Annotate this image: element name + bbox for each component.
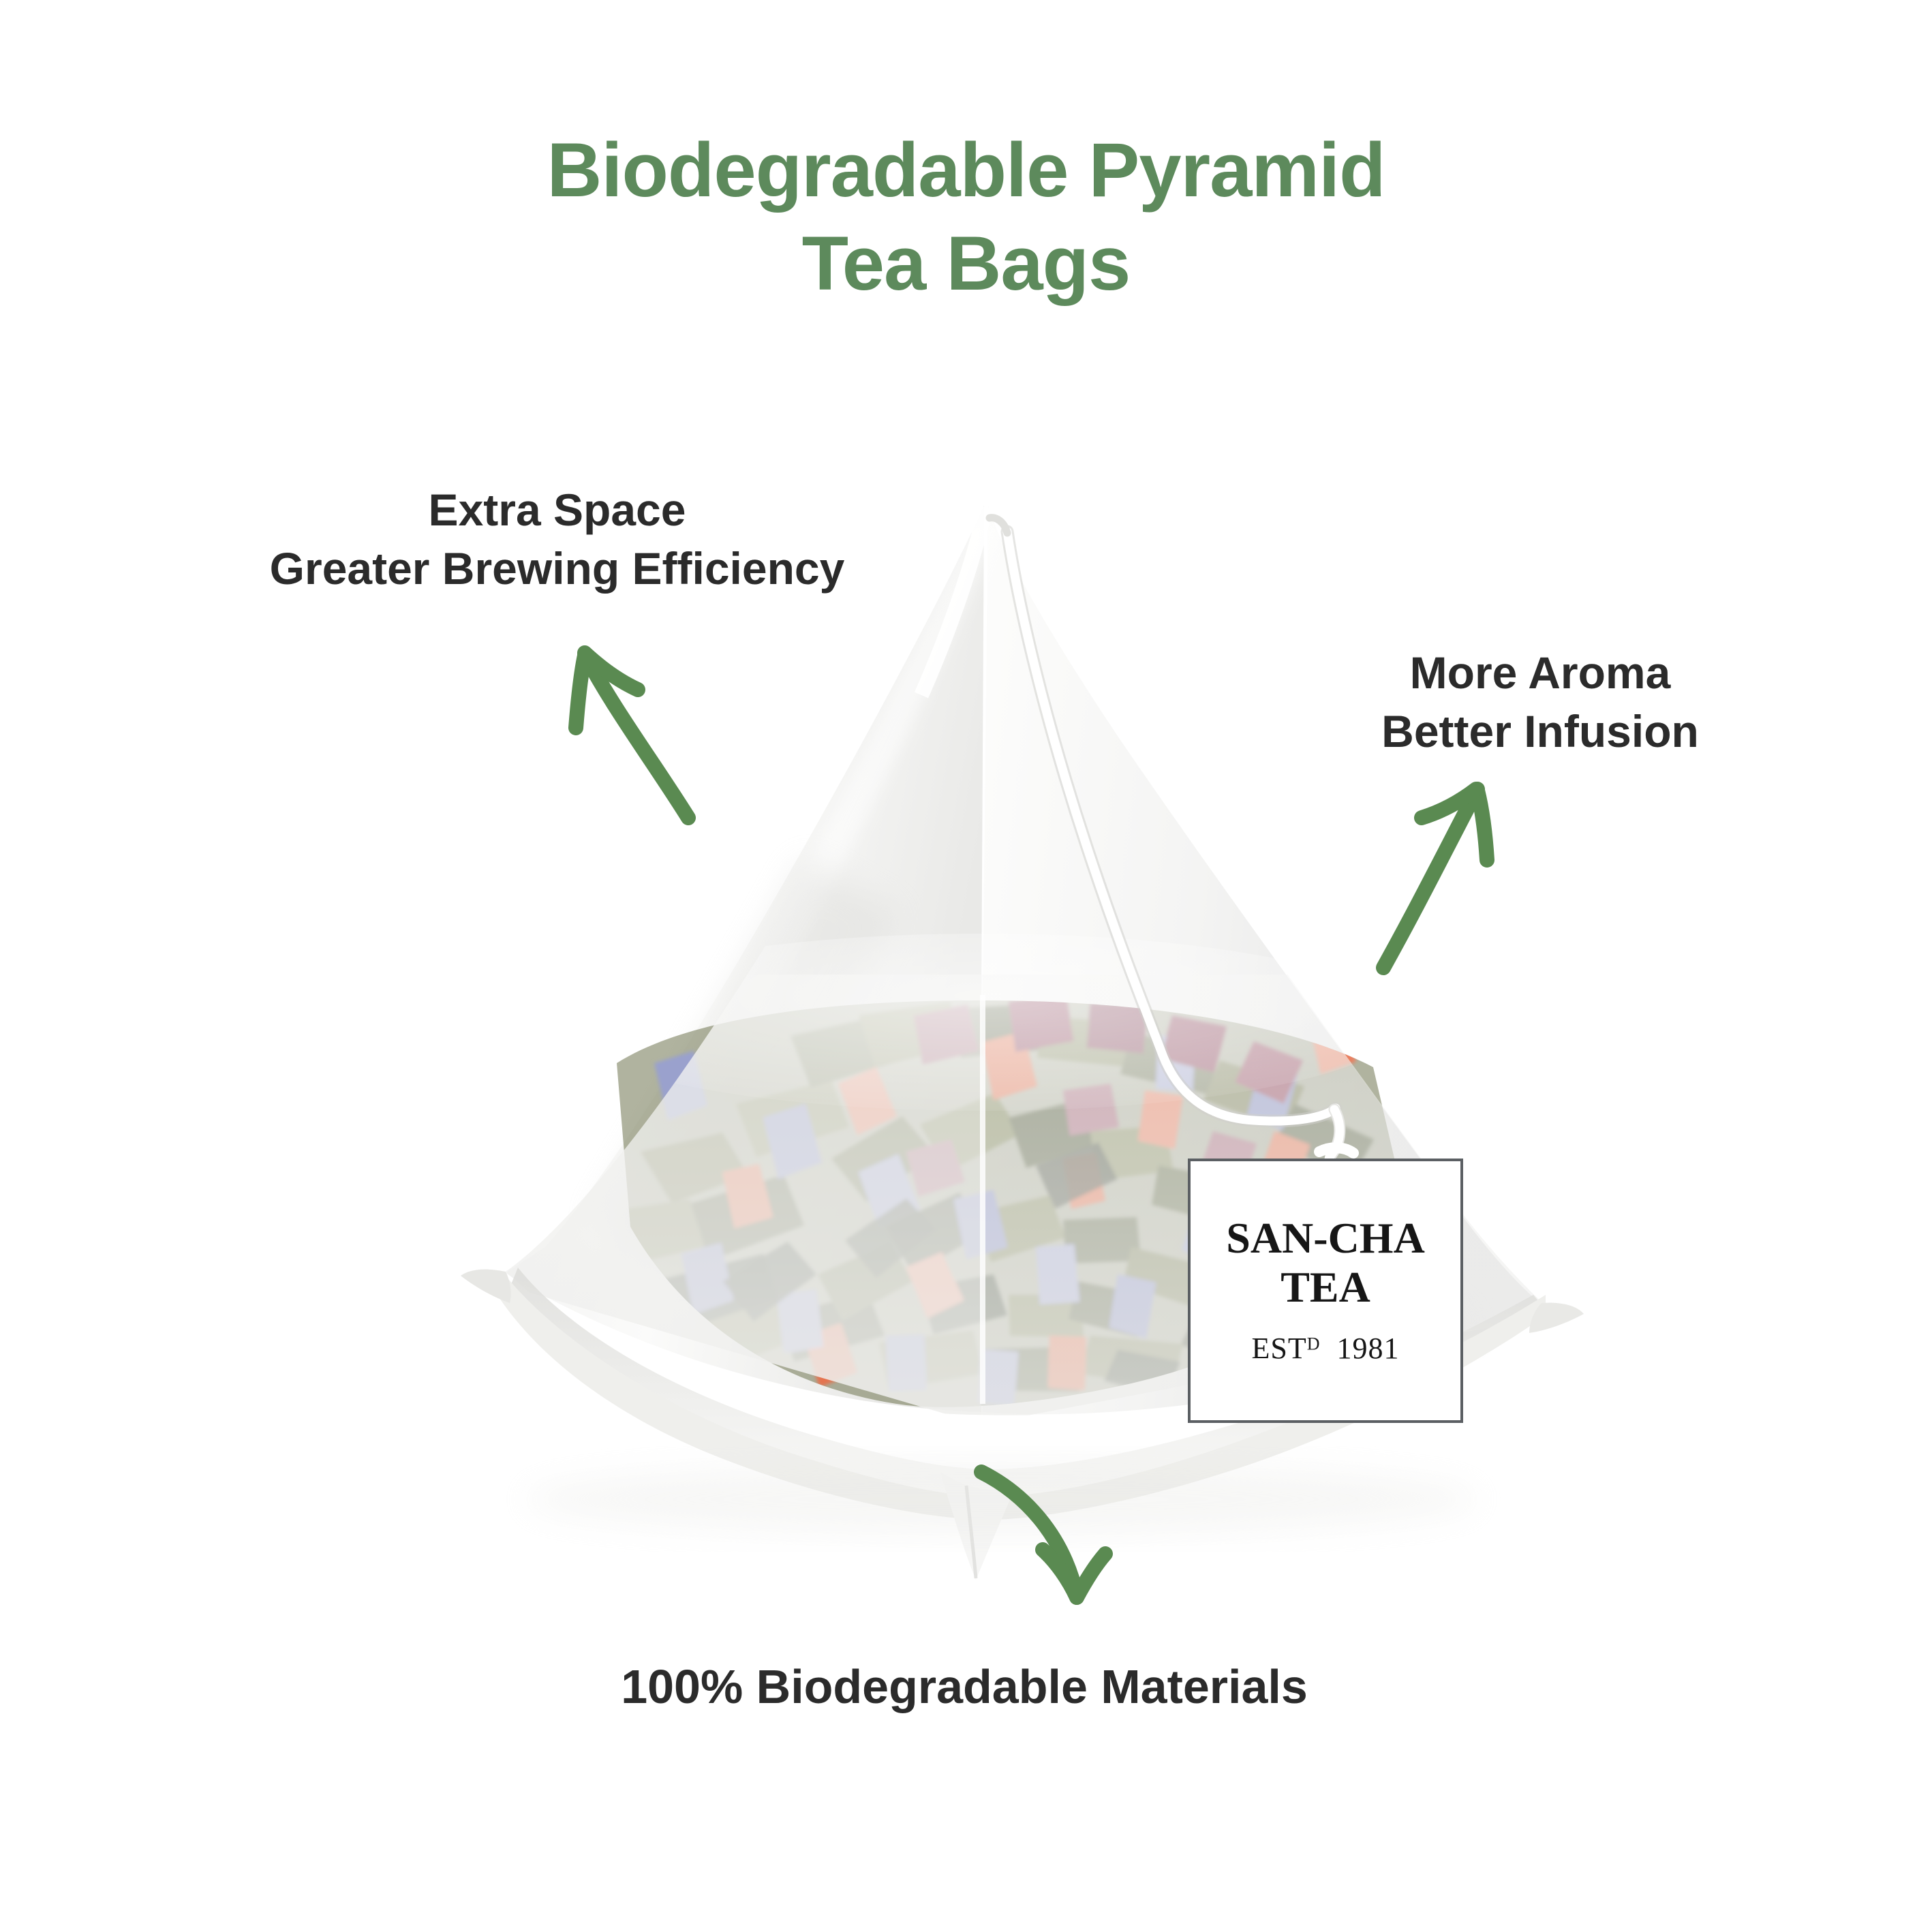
infographic-canvas: SAN-CHA TEA ESTD 1981 Biodegradable Pyra… — [0, 0, 1932, 1932]
tag-brand-line-1: SAN-CHA — [1226, 1216, 1425, 1260]
page-title: Biodegradable Pyramid Tea Bags — [0, 124, 1932, 310]
callout-label-biodegradable-materials: 100% Biodegradable Materials — [477, 1656, 1452, 1718]
callout-right-line-1: More Aroma — [1315, 644, 1765, 703]
tag-established-year: ESTD 1981 — [1251, 1331, 1399, 1366]
callout-left-line-1: Extra Space — [204, 481, 910, 540]
curved-arrow-up-left-icon — [576, 653, 688, 818]
callout-label-extra-space: Extra Space Greater Brewing Efficiency — [204, 481, 910, 598]
callout-right-line-2: Better Infusion — [1315, 703, 1765, 761]
curved-arrow-up-right-icon — [1383, 789, 1487, 968]
tea-bag-tag: SAN-CHA TEA ESTD 1981 — [1188, 1159, 1463, 1423]
bag-left-corner-flap — [461, 1270, 511, 1303]
callout-left-line-2: Greater Brewing Efficiency — [204, 540, 910, 598]
callout-bottom-line-1: 100% Biodegradable Materials — [477, 1656, 1452, 1718]
page-title-line-2: Tea Bags — [0, 217, 1932, 311]
tag-estd-prefix: EST — [1251, 1332, 1306, 1365]
tag-estd-year: 1981 — [1337, 1332, 1400, 1365]
tag-estd-superscript: D — [1307, 1334, 1321, 1353]
page-title-line-1: Biodegradable Pyramid — [0, 124, 1932, 217]
tag-brand-line-2: TEA — [1281, 1266, 1370, 1309]
callout-label-more-aroma: More Aroma Better Infusion — [1315, 644, 1765, 761]
